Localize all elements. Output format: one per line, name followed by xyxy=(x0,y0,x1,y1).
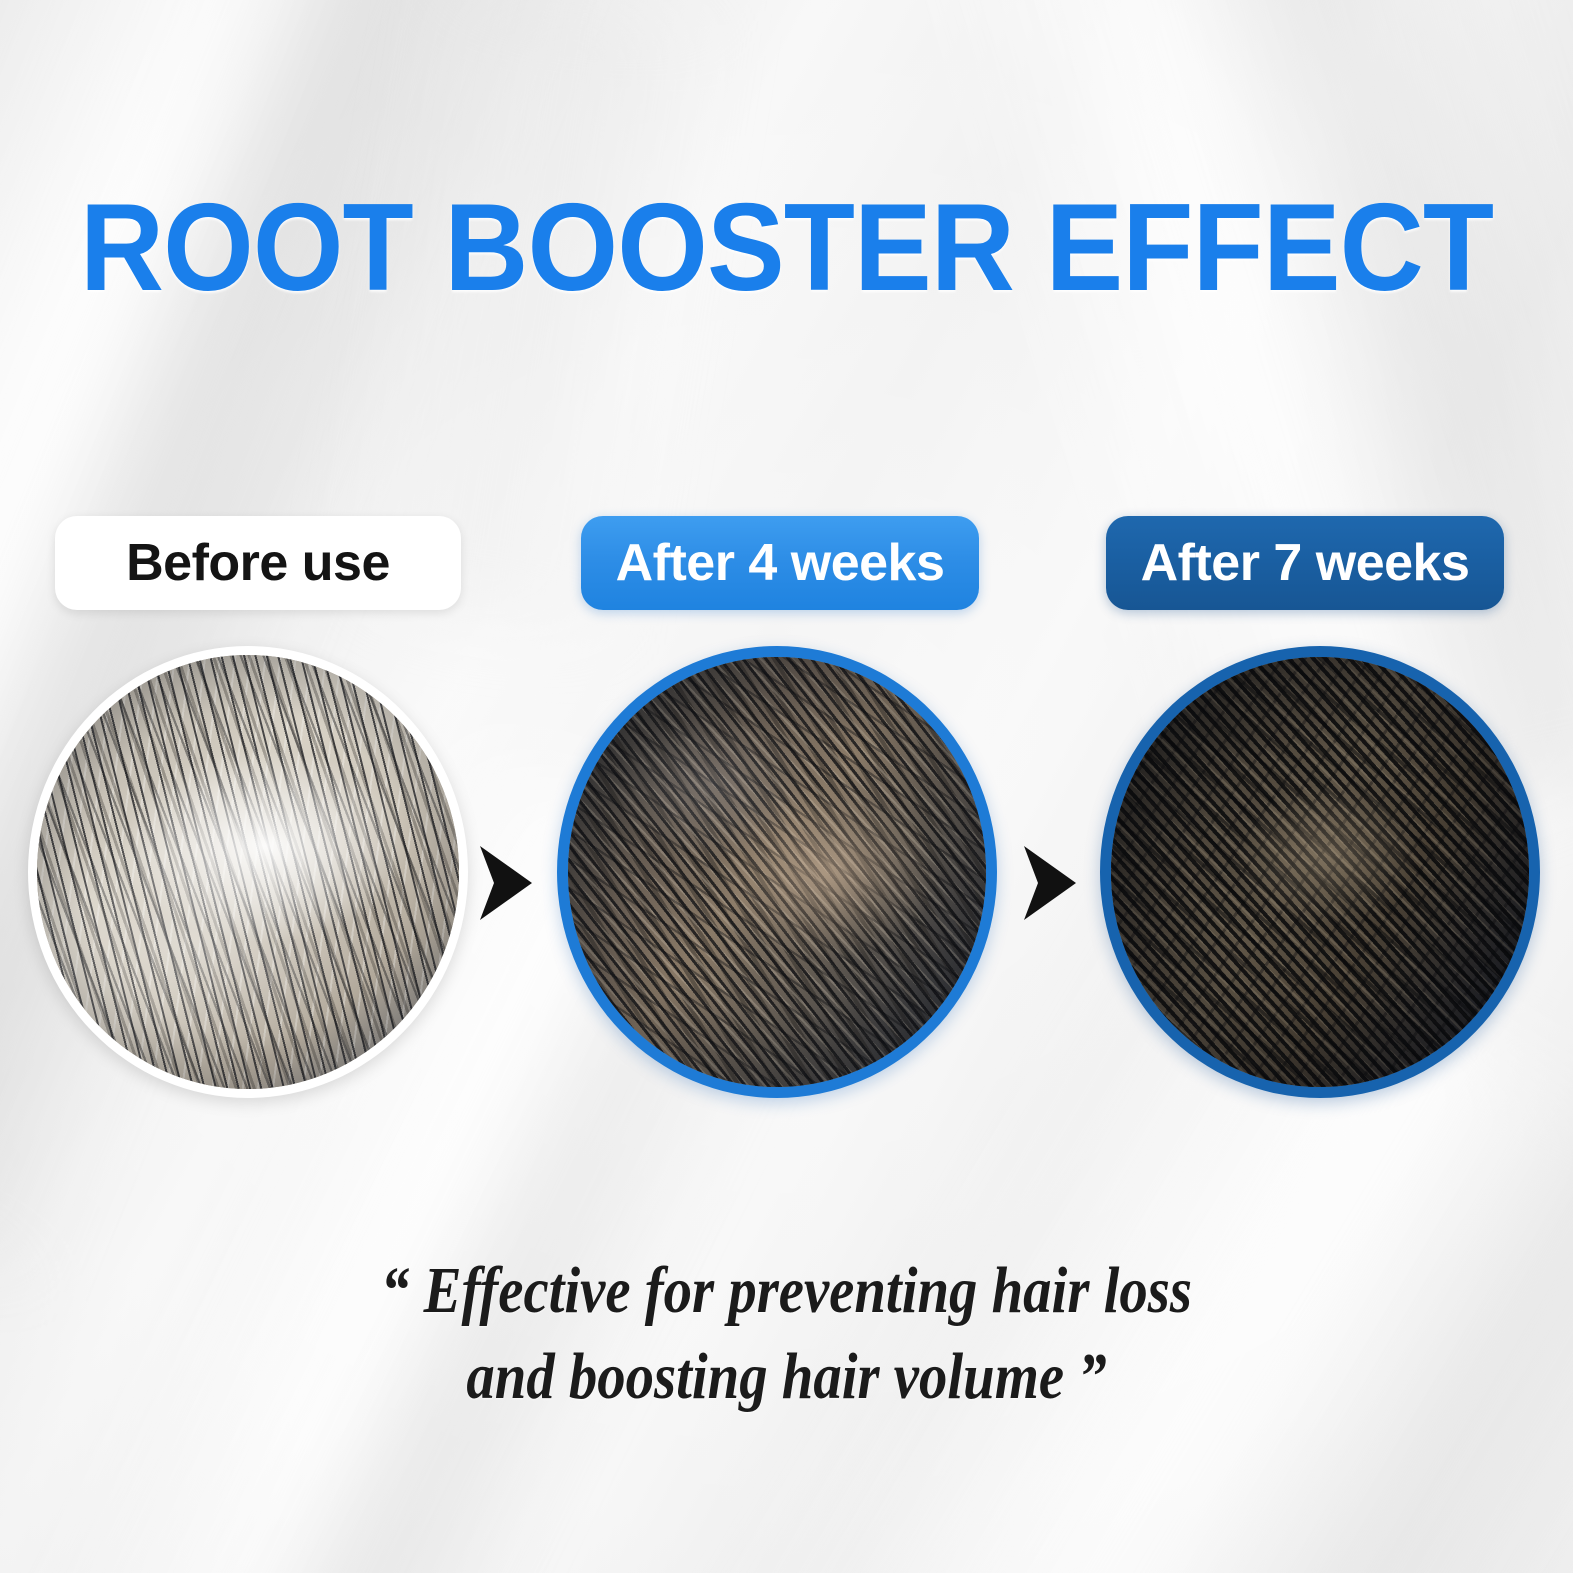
stage-label-before-use: Before use xyxy=(55,516,461,610)
hair-strands-after-7-weeks-secondary xyxy=(1100,646,1540,1098)
scalp-photo-before-use xyxy=(28,646,468,1098)
stage-label-after-4-weeks: After 4 weeks xyxy=(581,516,979,610)
stage-label-after-7-weeks: After 7 weeks xyxy=(1106,516,1504,610)
comparison-panel-before-use: Before use xyxy=(28,510,468,1110)
scalp-photo-before-use-circle xyxy=(28,646,468,1098)
scalp-photo-after-7-weeks xyxy=(1100,646,1540,1098)
quote-line-2: and boosting hair volume ” xyxy=(110,1334,1463,1420)
chevron-right-icon xyxy=(470,840,540,926)
scalp-photo-after-7-weeks-circle xyxy=(1100,646,1540,1098)
scalp-photo-after-4-weeks-circle xyxy=(557,646,997,1098)
testimonial-quote: “ Effective for preventing hair loss and… xyxy=(110,1248,1463,1420)
quote-line-1: “ Effective for preventing hair loss xyxy=(110,1248,1463,1334)
chevron-right-icon xyxy=(1014,840,1084,926)
page-title: ROOT BOOSTER EFFECT xyxy=(47,186,1526,310)
comparison-panel-after-4-weeks: After 4 weeks xyxy=(557,510,997,1110)
scalp-photo-after-4-weeks xyxy=(557,646,997,1098)
root-booster-effect-poster: ROOT BOOSTER EFFECT Before use After 4 w… xyxy=(0,0,1573,1573)
hair-strands-before-secondary xyxy=(28,646,468,1098)
comparison-panels-row: Before use After 4 weeks xyxy=(0,510,1573,1110)
hair-strands-after-4-weeks-secondary xyxy=(557,646,997,1098)
comparison-panel-after-7-weeks: After 7 weeks xyxy=(1100,510,1540,1110)
